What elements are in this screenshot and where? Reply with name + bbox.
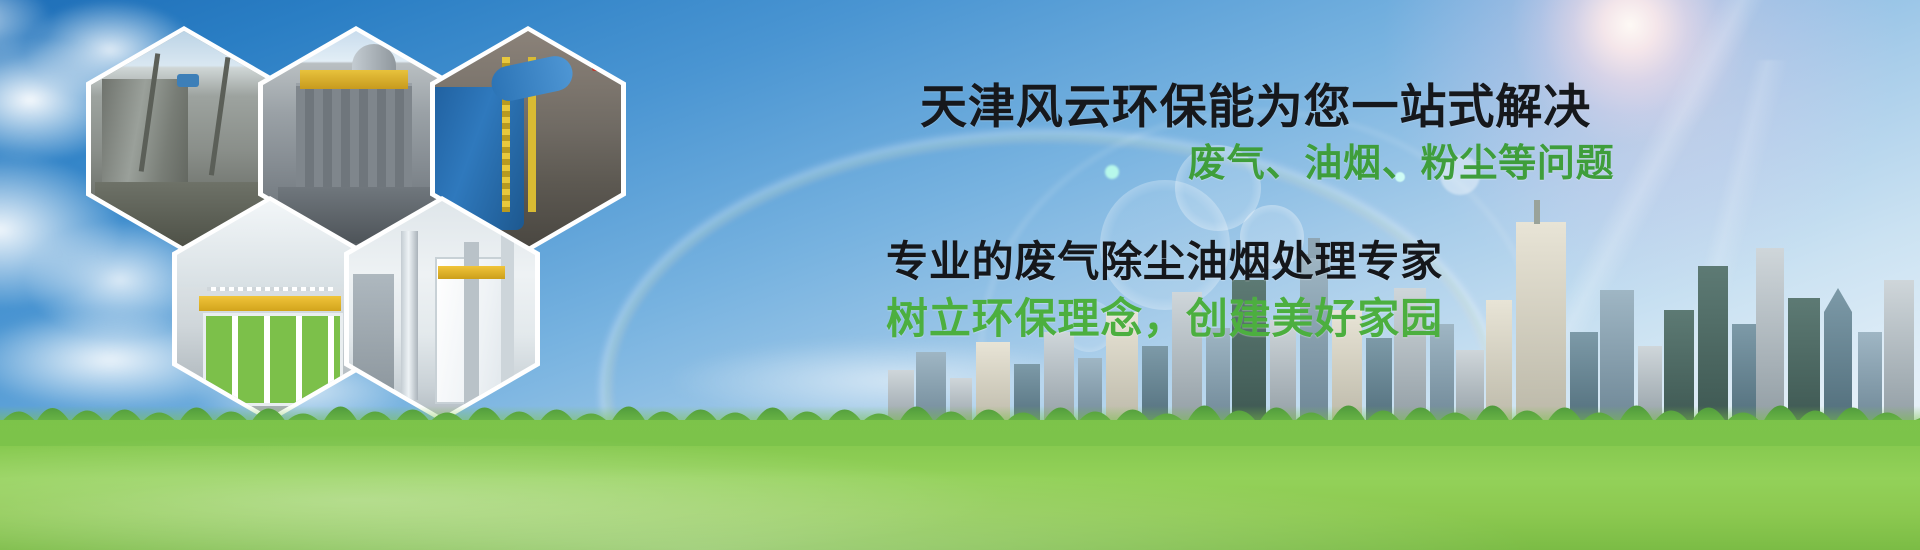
promo-banner: 天津风云环保能为您一站式解决 废气、油烟、粉尘等问题 专业的废气除尘油烟处理专家…: [0, 0, 1920, 550]
headline-accent: 废气、油烟、粉尘等问题: [1188, 132, 1614, 187]
banner-copy: 天津风云环保能为您一站式解决 废气、油烟、粉尘等问题 专业的废气除尘油烟处理专家…: [0, 0, 1920, 550]
headline-main: 天津风云环保能为您一站式解决: [920, 68, 1591, 137]
subline-accent: 树立环保理念，创建美好家园: [886, 285, 1443, 346]
subline-main: 专业的废气除尘油烟处理专家: [886, 228, 1443, 289]
